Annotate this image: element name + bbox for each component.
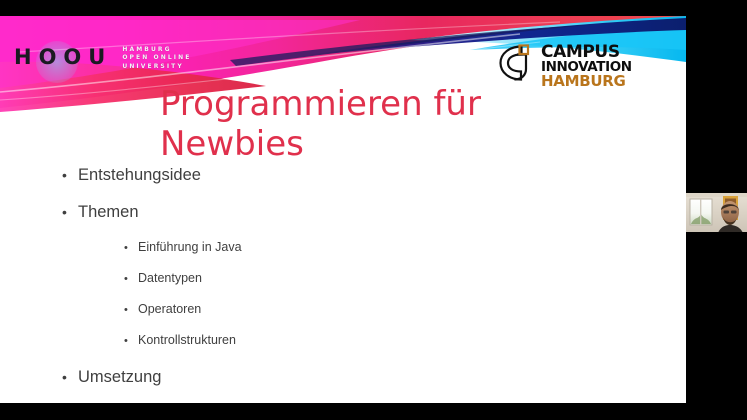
bullet-item: • Umsetzung [62,368,622,388]
shared-slide[interactable]: HOOU HAMBURG OPEN ONLINE UNIVERSITY CAMP… [0,16,686,403]
hoou-tagline-line-1: HAMBURG [122,47,191,53]
sub-bullet-item: • Operatoren [124,302,622,317]
bullet-dot-icon: • [62,167,78,183]
sub-bullet-text: Einführung in Java [138,240,242,255]
video-conference-stage: HOOU HAMBURG OPEN ONLINE UNIVERSITY CAMP… [0,0,747,420]
bullet-dot-icon: • [124,273,138,285]
bullet-dot-icon: • [124,242,138,254]
bullet-text: Umsetzung [78,368,161,388]
bullet-item: • Entstehungsidee [62,166,622,186]
slide-title: Programmieren für Newbies [160,84,630,164]
bullet-text: Entstehungsidee [78,166,201,186]
sub-bullet-text: Datentypen [138,271,202,286]
bullet-dot-icon: • [124,335,138,347]
sub-bullet-text: Operatoren [138,302,201,317]
bullet-dot-icon: • [62,369,78,385]
sub-bullet-item: • Einführung in Java [124,240,622,255]
bullet-dot-icon: • [62,204,78,220]
campus-innovation-mark [497,43,535,83]
sub-bullet-text: Kontrollstrukturen [138,333,236,348]
hoou-logo: HOOU HAMBURG OPEN ONLINE UNIVERSITY [14,46,191,70]
hoou-tagline-line-2: OPEN ONLINE [122,55,191,61]
slide-body: • Entstehungsidee • Themen • Einführung … [62,166,622,387]
hoou-tagline-line-3: UNIVERSITY [122,64,191,70]
sub-bullet-item: • Datentypen [124,271,622,286]
campus-innovation-logo: CAMPUS INNOVATION HAMBURG [497,43,632,89]
bullet-text: Themen [78,203,139,223]
hoou-tagline: HAMBURG OPEN ONLINE UNIVERSITY [122,46,191,70]
sub-bullet-item: • Kontrollstrukturen [124,333,622,348]
participant-video-thumbnail[interactable] [686,190,747,236]
bullet-item: • Themen [62,203,622,223]
bullet-dot-icon: • [124,304,138,316]
campus-innovation-wordmark: CAMPUS INNOVATION HAMBURG [541,43,632,89]
hoou-wordmark: HOOU [14,47,112,68]
